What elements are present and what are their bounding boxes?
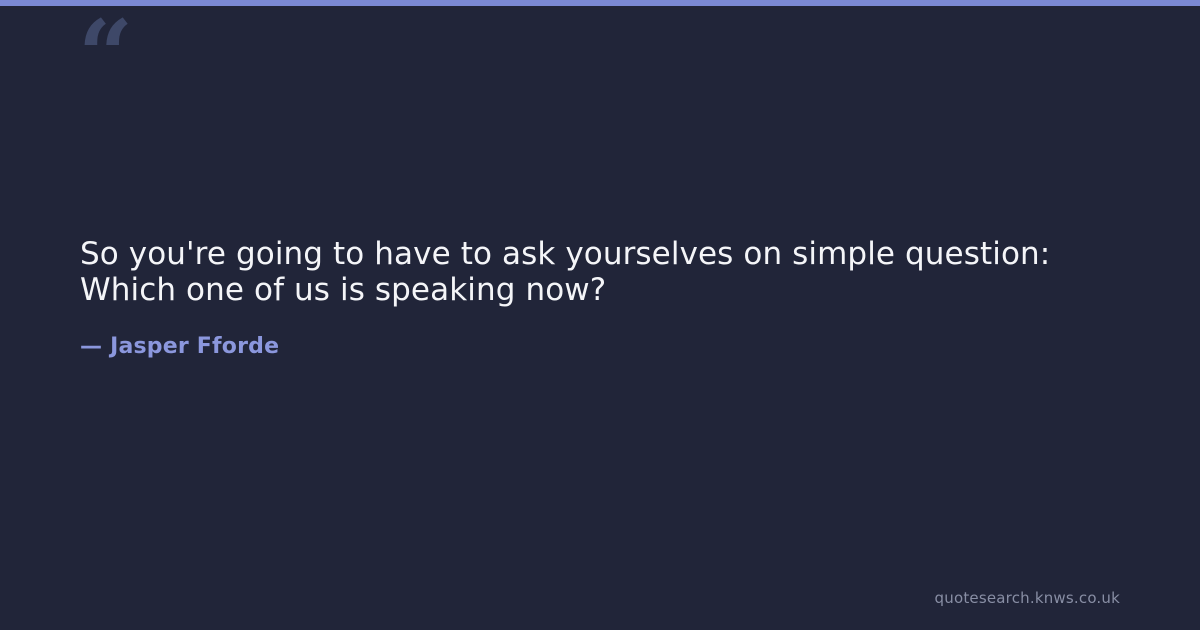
source-site-url[interactable]: quotesearch.knws.co.uk bbox=[935, 588, 1120, 608]
quote-body: So you're going to have to ask yourselve… bbox=[80, 236, 1120, 361]
quote-text: So you're going to have to ask yourselve… bbox=[80, 236, 1090, 308]
attribution-dash: — bbox=[80, 334, 102, 359]
quote-card: “ So you're going to have to ask yoursel… bbox=[0, 0, 1200, 630]
top-accent-bar bbox=[0, 0, 1200, 6]
author-name[interactable]: Jasper Fforde bbox=[110, 334, 279, 359]
quote-attribution: — Jasper Fforde bbox=[80, 333, 1120, 361]
opening-quotation-mark-icon: “ bbox=[78, 8, 131, 104]
